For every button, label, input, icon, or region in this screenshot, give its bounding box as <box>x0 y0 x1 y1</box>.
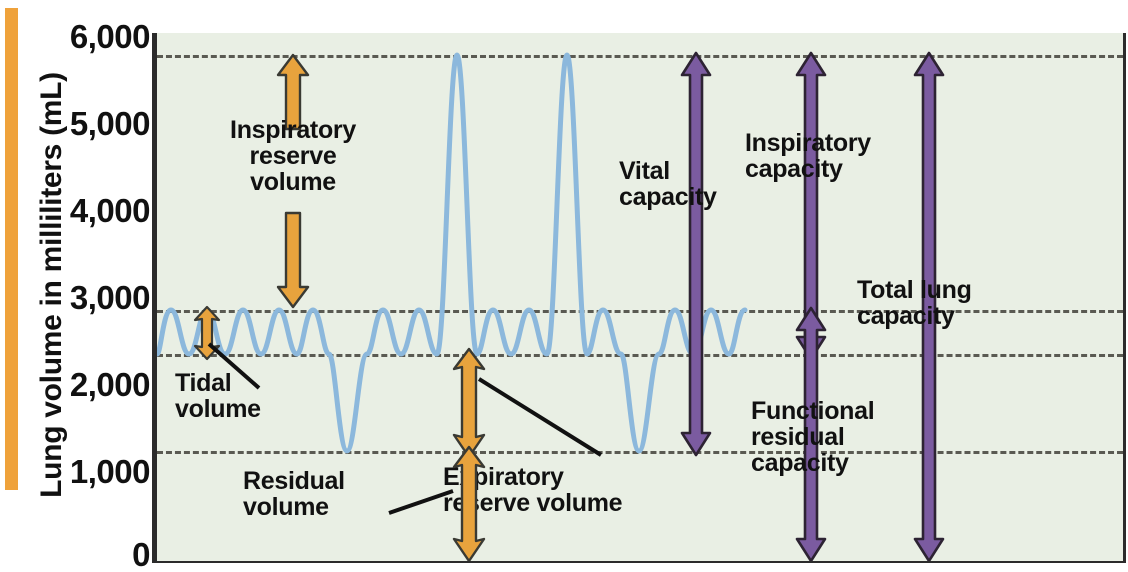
residual-volume-label: Residual volume <box>243 469 453 521</box>
y-tick-4000: 4,000 <box>15 194 150 227</box>
vital-capacity-arrow <box>679 51 713 457</box>
rv-label-line1: Residual <box>243 469 453 495</box>
tlc-label-line2: capacity <box>857 304 1097 330</box>
tidal-volume-label: Tidal volume <box>175 371 375 423</box>
lung-volumes-figure: Lung volume in milliliters (mL) 6,000 5,… <box>0 0 1128 572</box>
tv-label-line1: Tidal <box>175 371 375 397</box>
total-lung-capacity-label: Total lung capacity <box>857 278 1097 330</box>
y-tick-2000: 2,000 <box>15 368 150 401</box>
y-tick-3000: 3,000 <box>15 281 150 314</box>
tv-label-line2: volume <box>175 397 375 423</box>
plot-area: Inspiratory reserve volume Tidal volume <box>157 33 1126 561</box>
y-tick-1000: 1,000 <box>15 455 150 488</box>
rv-label-line2: volume <box>243 495 453 521</box>
y-tick-6000: 6,000 <box>15 20 150 53</box>
inspiratory-reserve-volume-arrow-lower <box>275 211 311 309</box>
frc-label-line2: residual <box>751 425 981 451</box>
vc-label-line2: capacity <box>619 185 799 211</box>
y-axis-tick-labels: 6,000 5,000 4,000 3,000 2,000 1,000 0 <box>10 0 150 572</box>
y-tick-0: 0 <box>15 538 150 571</box>
y-tick-5000: 5,000 <box>15 107 150 140</box>
irv-label-line1: Inspiratory <box>193 118 393 144</box>
irv-label-line2: reserve <box>193 144 393 170</box>
functional-residual-capacity-label: Functional residual capacity <box>751 399 981 476</box>
frc-label-line3: capacity <box>751 451 981 477</box>
tlc-label-line1: Total lung <box>857 278 1097 304</box>
irv-label-line3: volume <box>193 170 393 196</box>
inspiratory-reserve-volume-label: Inspiratory reserve volume <box>193 118 393 195</box>
expiratory-reserve-volume-leader-line <box>475 375 607 461</box>
frc-label-line1: Functional <box>751 399 981 425</box>
